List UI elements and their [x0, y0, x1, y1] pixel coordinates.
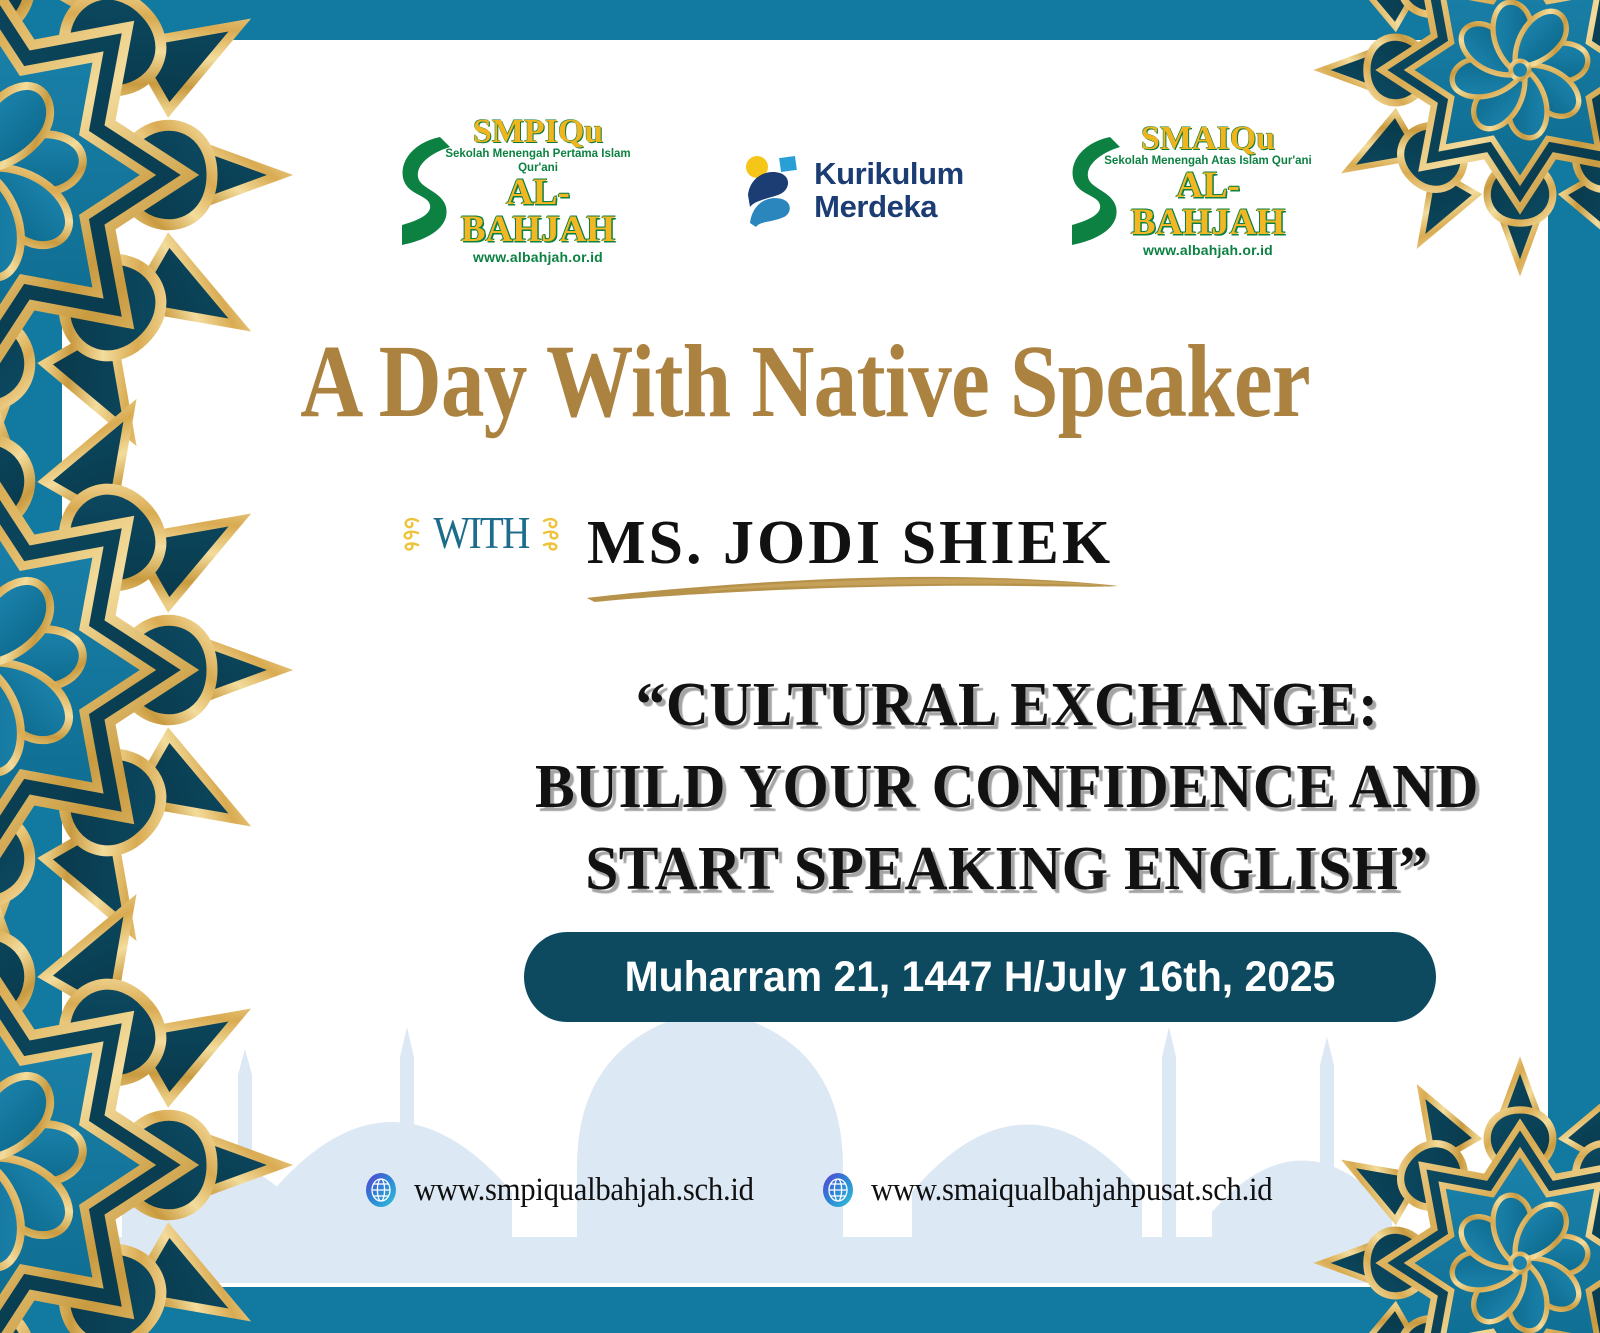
poster-content: SMPIQu Sekolah Menengah Pertama Islam Qu…	[62, 40, 1548, 1287]
frame-border-bottom	[0, 1287, 1600, 1333]
speaker-name: MS. JODI SHIEK	[587, 512, 1113, 574]
logo-sma-url: www.albahjah.or.id	[1104, 242, 1312, 258]
globe-icon	[362, 1171, 400, 1209]
swirl-flourish-right-icon	[541, 514, 561, 552]
logo-sma-name: SMAIQu	[1104, 122, 1312, 156]
kurikulum-merdeka-mark-icon	[740, 151, 802, 229]
poster-canvas: SMPIQu Sekolah Menengah Pertama Islam Qu…	[0, 0, 1600, 1333]
logo-row: SMPIQu Sekolah Menengah Pertama Islam Qu…	[392, 130, 1312, 250]
logo-smp-main: AL-BAHJAH	[434, 174, 642, 248]
logo-kurikulum-merdeka: Kurikulum Merdeka	[727, 151, 977, 229]
footer-url-smp-text: www.smpiqualbahjah.sch.id	[414, 1172, 754, 1209]
footer-url-sma-text: www.smaiqualbahjahpusat.sch.id	[871, 1172, 1272, 1209]
logo-smp-url: www.albahjah.or.id	[434, 249, 642, 265]
kurikulum-line2: Merdeka	[814, 190, 964, 223]
with-label: WITH	[433, 510, 528, 556]
logo-smp-name: SMPIQu	[434, 115, 642, 149]
logo-smpiqu-albahjah: SMPIQu Sekolah Menengah Pertama Islam Qu…	[392, 131, 642, 249]
brush-stroke-icon	[579, 570, 1126, 604]
kurikulum-line1: Kurikulum	[814, 157, 964, 190]
frame-border-left	[0, 0, 62, 1333]
kurikulum-merdeka-text: Kurikulum Merdeka	[814, 157, 964, 223]
swirl-flourish-left-icon	[401, 514, 421, 552]
quote-line-3: START SPEAKING ENGLISH”	[522, 829, 1492, 911]
speaker-block: MS. JODI SHIEK	[587, 512, 1113, 574]
with-group: WITH	[401, 510, 561, 556]
logo-sma-main: AL-BAHJAH	[1104, 167, 1312, 241]
frame-border-right	[1548, 0, 1600, 1333]
event-date-banner: Muharram 21, 1447 H/July 16th, 2025	[524, 932, 1436, 1022]
logo-smp-subtitle: Sekolah Menengah Pertama Islam Qur'ani	[434, 147, 642, 176]
poster-headline: A Day With Native Speaker	[181, 330, 1429, 434]
quote-line-2: BUILD YOUR CONFIDENCE AND	[522, 747, 1492, 829]
speaker-row: WITH MS. JODI SHIEK	[62, 510, 1548, 574]
logo-smaiqu-albahjah: SMAIQu Sekolah Menengah Atas Islam Qur'a…	[1062, 131, 1312, 249]
footer-url-sma[interactable]: www.smaiqualbahjahpusat.sch.id	[819, 1171, 1303, 1209]
frame-border-top	[0, 0, 1600, 40]
globe-icon	[819, 1171, 857, 1209]
quote-line-1: “CULTURAL EXCHANGE:	[522, 665, 1492, 747]
footer-url-smp[interactable]: www.smpiqualbahjah.sch.id	[362, 1171, 779, 1209]
footer-urls: www.smpiqualbahjah.sch.id www.smaiqualba…	[362, 1171, 1303, 1209]
quote-text: “CULTURAL EXCHANGE: BUILD YOUR CONFIDENC…	[522, 665, 1492, 910]
